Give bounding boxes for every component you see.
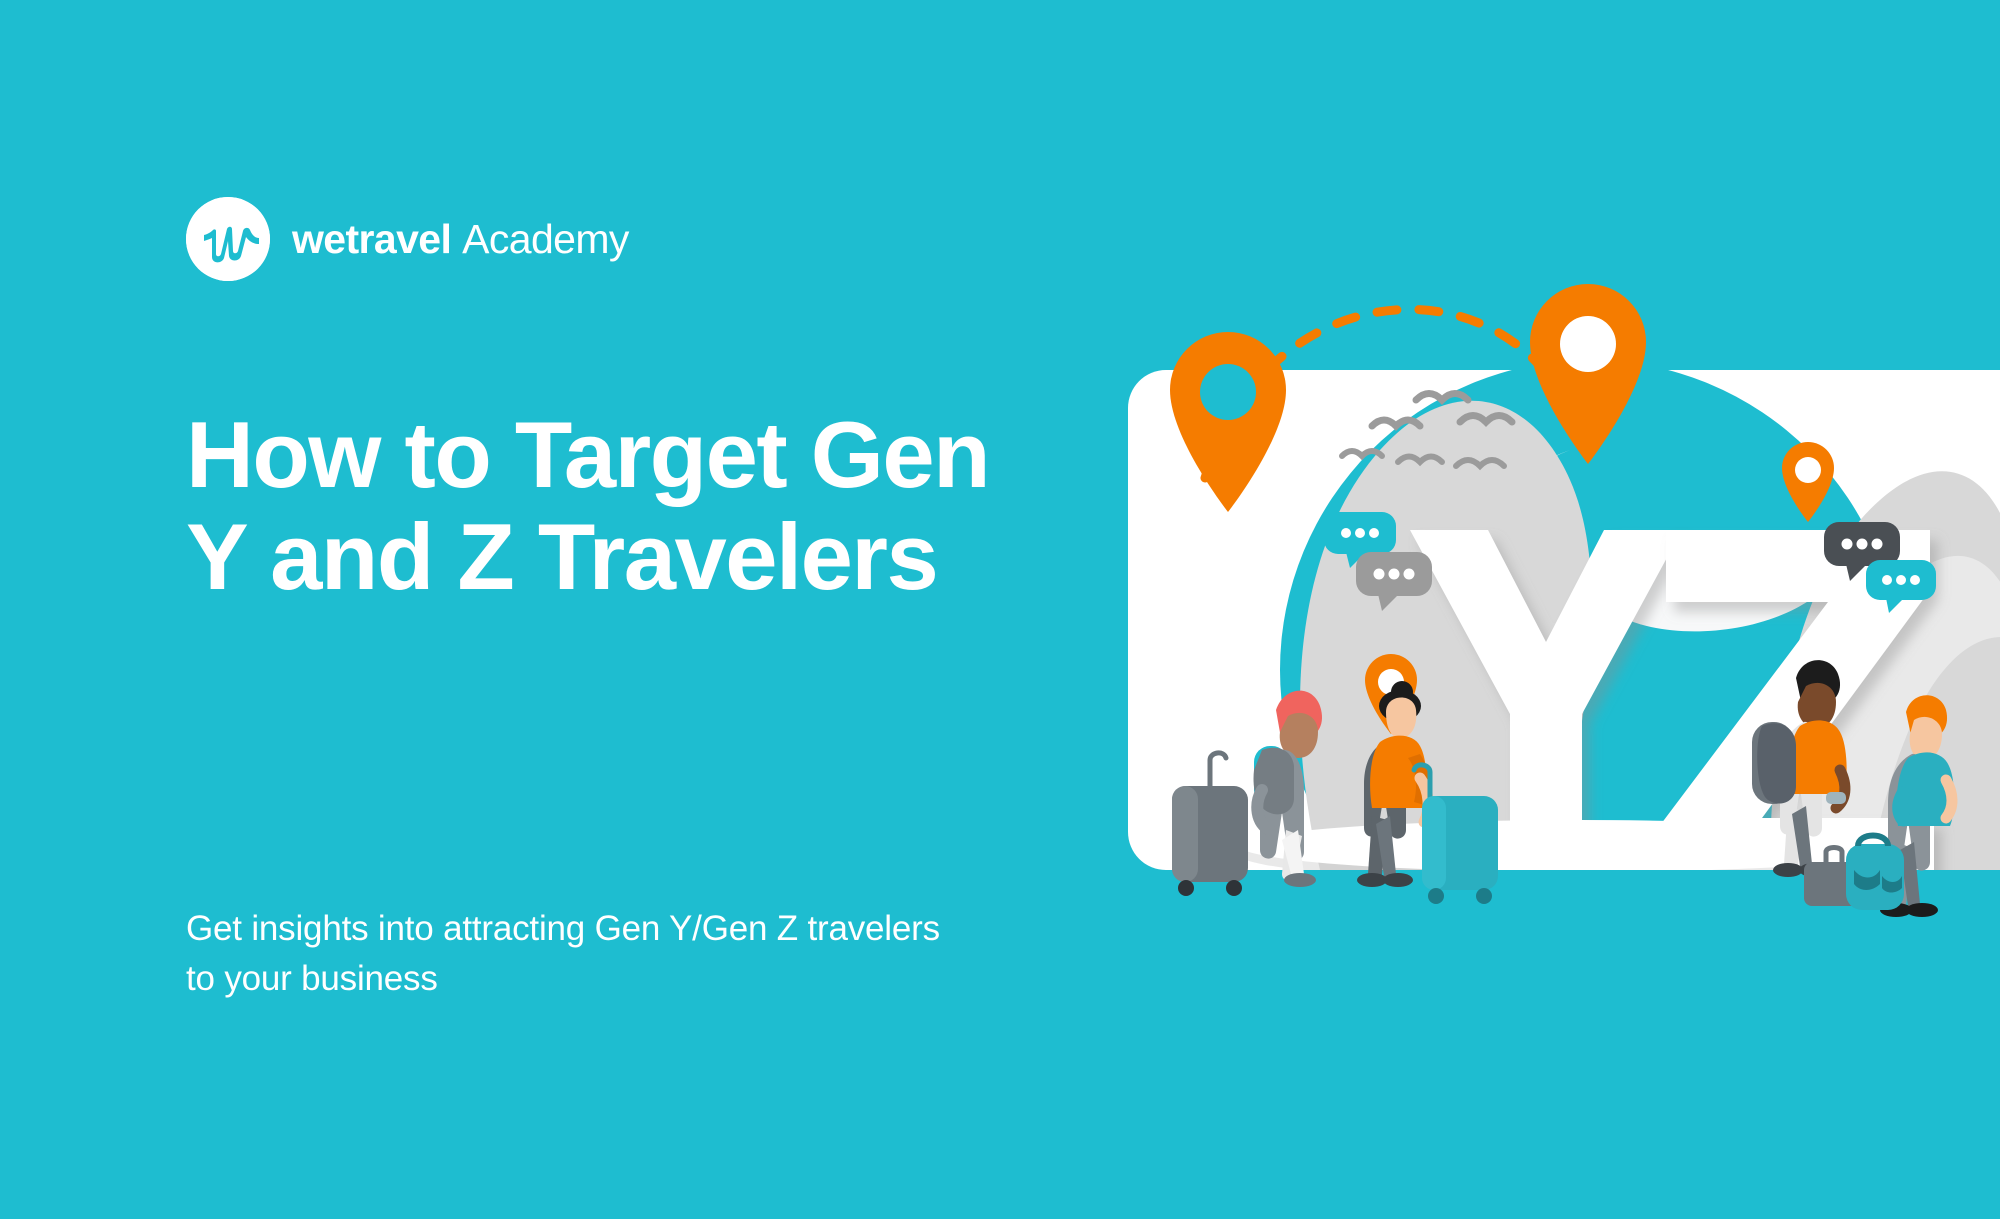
brand-lockup[interactable]: wetravel Academy bbox=[186, 196, 986, 282]
brand-name: wetravel Academy bbox=[292, 219, 629, 260]
page-subtitle: Get insights into attracting Gen Y/Gen Z… bbox=[186, 904, 976, 1003]
brand-name-secondary: Academy bbox=[462, 216, 629, 262]
page-title: How to Target Gen Y and Z Travelers bbox=[186, 404, 1006, 607]
backpack-teal bbox=[1846, 836, 1904, 911]
poster-canvas: wetravel Academy How to Target Gen Y and… bbox=[0, 0, 2000, 1219]
hero-content: wetravel Academy How to Target Gen Y and… bbox=[186, 196, 986, 282]
gen-y-gen-z-travelers-illustration bbox=[1110, 230, 2000, 930]
wetravel-w-logo-icon bbox=[186, 197, 270, 281]
brand-name-primary: wetravel bbox=[292, 216, 451, 262]
